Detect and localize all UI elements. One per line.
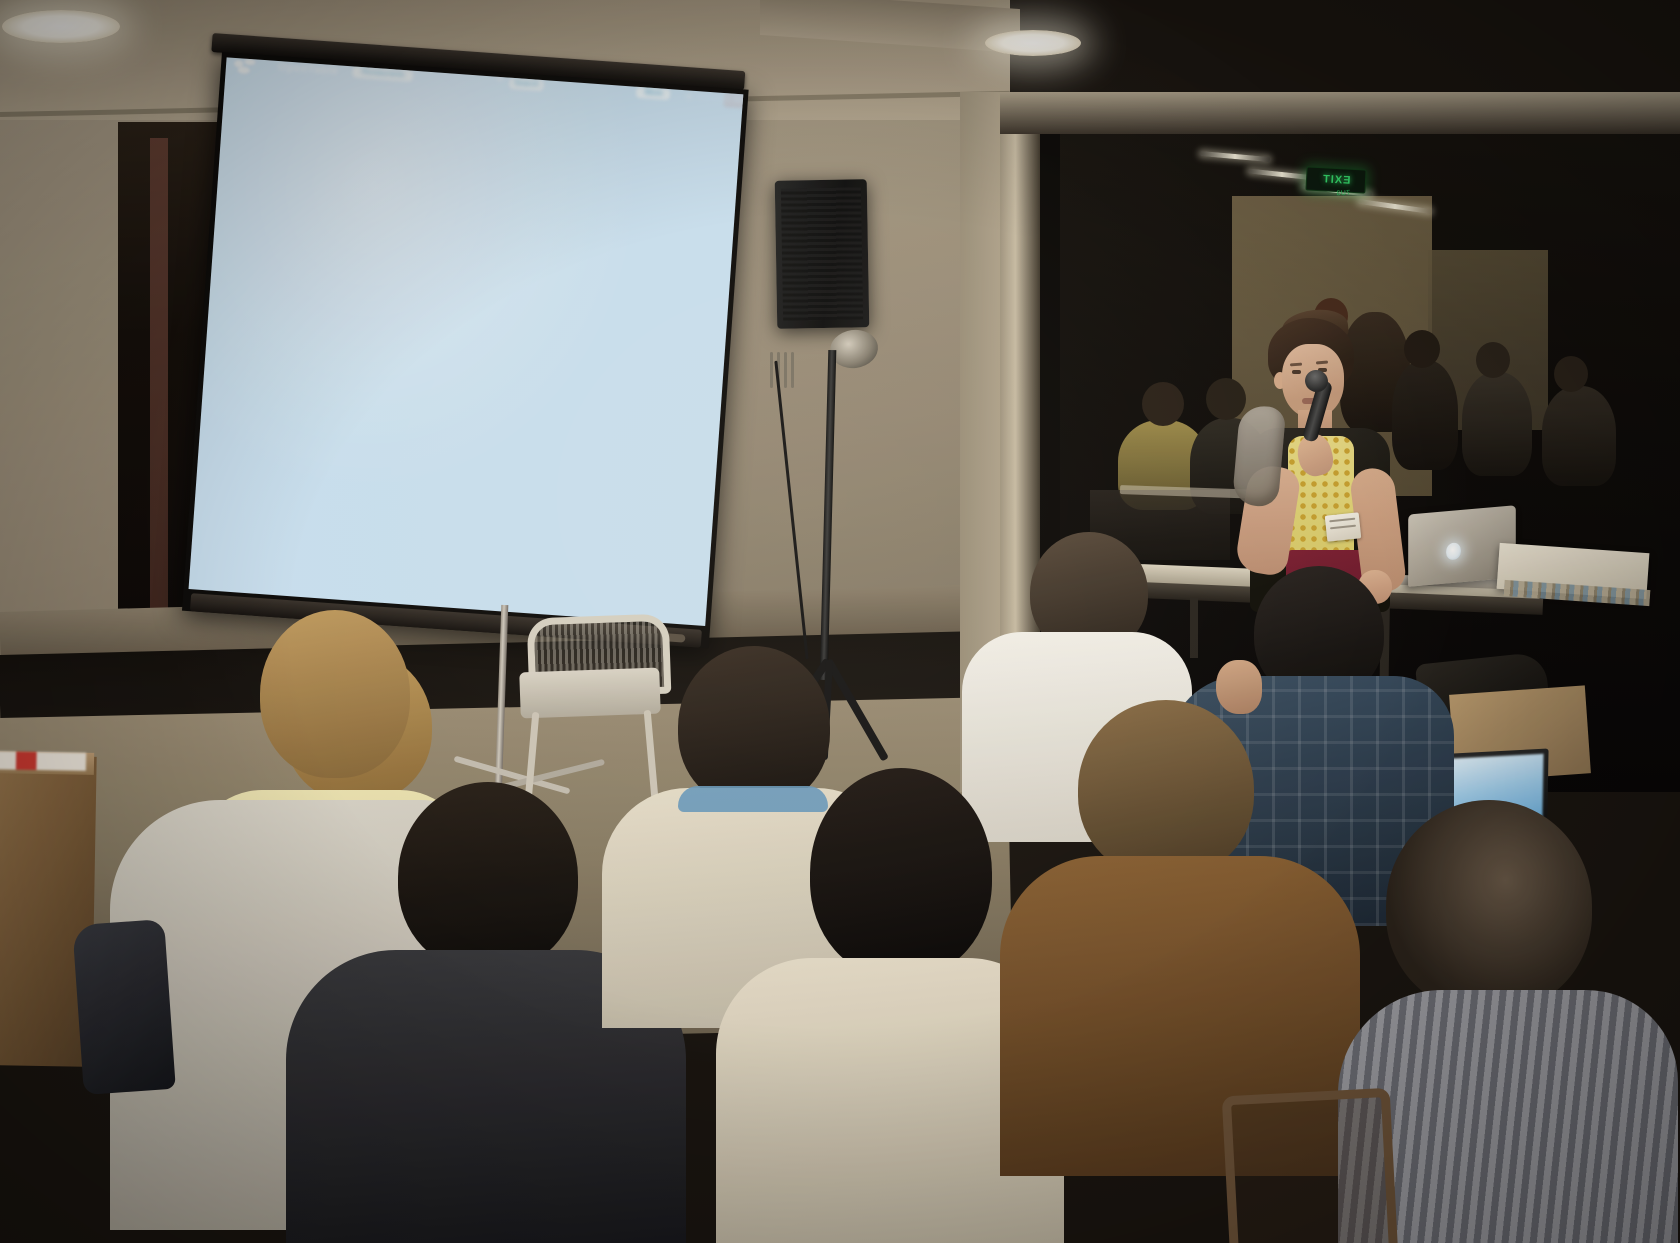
door-header [1000, 92, 1680, 134]
flyer-stack [0, 751, 86, 771]
photo-scene: EXIT 7U3 Ope [0, 0, 1680, 1243]
user-icon [686, 93, 692, 99]
account-menu-label: Account Menu [698, 91, 744, 105]
ceiling-light-icon [2, 10, 120, 43]
presenter-eye [1292, 370, 1301, 374]
back-room-person-head [1476, 342, 1510, 378]
chevron-down-icon[interactable] [495, 77, 505, 83]
audience-head [1386, 800, 1592, 1012]
projected-image: OpenTable Marketing Account Menu Restaur… [189, 57, 744, 626]
exit-sign-text: EXIT [1321, 173, 1350, 186]
chair-frame [1222, 1088, 1399, 1243]
tripod-fork-bracket [770, 352, 796, 400]
back-room-person [1542, 386, 1616, 486]
audience-head [810, 768, 992, 978]
speaker-grille-icon [781, 187, 863, 320]
back-room-person-head [1142, 382, 1184, 426]
presenter-arm-tattoo [1232, 404, 1287, 508]
cloud-nodes-logo-icon [234, 58, 261, 76]
backpack [72, 919, 176, 1095]
projection-screen-assembly: OpenTable Marketing Account Menu Restaur… [212, 30, 787, 640]
name-badge [1325, 512, 1362, 541]
pa-speaker [775, 179, 870, 329]
exit-sign-subtext: 7U3 [1336, 190, 1351, 198]
audience-head [260, 610, 410, 778]
audience-head [1078, 700, 1254, 878]
apple-logo-icon [1446, 542, 1461, 560]
back-room-person [1462, 372, 1532, 476]
projection-screen: OpenTable Marketing Account Menu Restaur… [182, 52, 749, 648]
account-menu[interactable]: Account Menu [686, 90, 744, 105]
app-brand: OpenTable [277, 61, 338, 77]
screen-glare [189, 57, 744, 626]
ceiling-light-icon [985, 30, 1081, 56]
back-room-person-head [1554, 356, 1588, 392]
audience-head [398, 782, 578, 972]
audience-member-brown-jacket [1000, 700, 1360, 1160]
doorway-trim [150, 138, 168, 638]
